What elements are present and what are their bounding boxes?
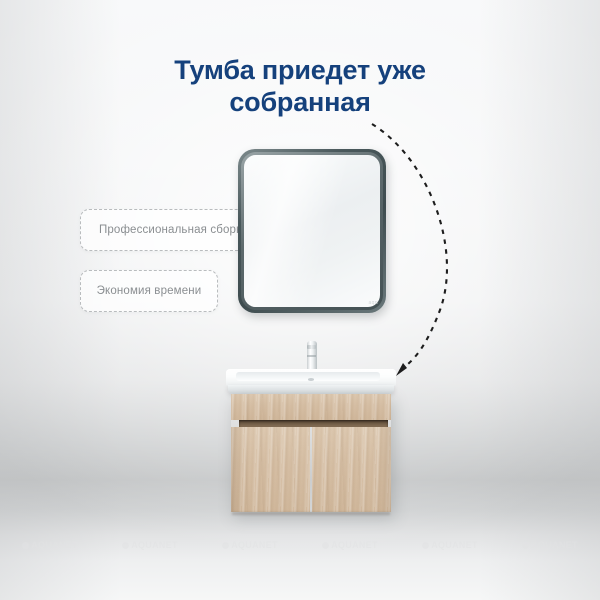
cabinet-top-panel [231, 394, 391, 420]
watermark-strip: AQUANET AQUANET AQUANET AQUANET AQUANET … [0, 540, 600, 550]
watermark-item: AQUANET [22, 540, 78, 550]
watermark-label: AQUANET [231, 540, 278, 550]
watermark-label: AQUANET [131, 540, 178, 550]
faucet-band [307, 355, 316, 357]
badge-label: Экономия времени [97, 285, 202, 297]
watermark-item: AQUANET [422, 540, 478, 550]
watermark-label: AQUANET [331, 540, 378, 550]
door-right-shadow [377, 427, 391, 512]
aquanet-logo-icon [222, 542, 229, 549]
product-banner: Тумба приедет уже собранная Профессионал… [0, 0, 600, 600]
aquanet-logo-icon [522, 542, 529, 549]
cabinet-door-right [312, 427, 391, 512]
washbasin [226, 369, 396, 395]
door-left-shadow [231, 427, 245, 512]
vanity-cabinet [231, 394, 391, 512]
aquanet-logo-icon [122, 542, 129, 549]
watermark-item: AQUANET [322, 540, 378, 550]
watermark-label: AQUANET [31, 540, 78, 550]
aquanet-logo-icon [422, 542, 429, 549]
cabinet-handle-groove [239, 420, 388, 427]
watermark-item: AQUANET [222, 540, 278, 550]
mirror-reflection-sheen [244, 155, 351, 307]
badge-label: Профессиональная сборка [99, 224, 248, 236]
watermark-label: AQUANET [531, 540, 578, 550]
faucet-lever [307, 345, 316, 349]
washbasin-apron [228, 385, 394, 394]
aquanet-logo-icon [22, 542, 29, 549]
cabinet-door-left [231, 427, 310, 512]
mirror-logo: aqn [368, 300, 378, 306]
aquanet-logo-icon [322, 542, 329, 549]
page-title: Тумба приедет уже собранная [0, 55, 600, 119]
bathroom-mirror: aqn [238, 149, 386, 313]
washbasin-drain [308, 378, 314, 381]
watermark-label: AQUANET [431, 540, 478, 550]
cabinet-underside-shadow [232, 512, 390, 515]
watermark-item: AQUANET [522, 540, 578, 550]
watermark-item: AQUANET [122, 540, 178, 550]
badge-time-saving: Экономия времени [80, 270, 218, 312]
cabinet-doors [231, 427, 391, 512]
mirror-glass [244, 155, 380, 307]
